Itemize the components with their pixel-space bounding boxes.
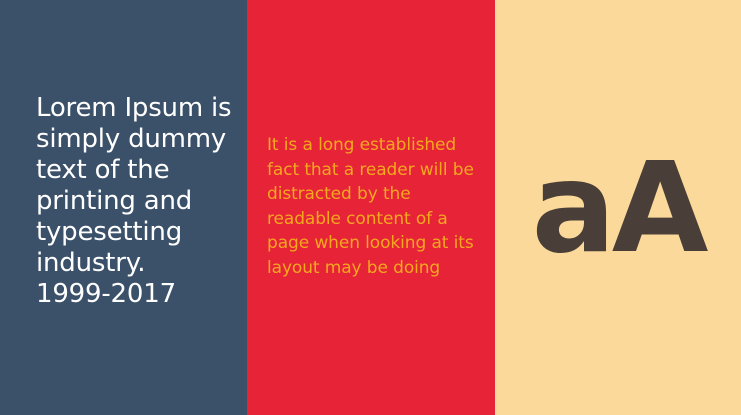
headline-panel: Lorem Ipsum is simply dummy text of the … <box>0 0 247 415</box>
glyph-pair-text: aA <box>495 146 741 271</box>
bodycopy-panel: It is a long established fact that a rea… <box>247 0 495 415</box>
font-specimen-canvas: Lorem Ipsum is simply dummy text of the … <box>0 0 741 415</box>
bodycopy-text: It is a long established fact that a rea… <box>267 133 482 280</box>
headline-text: Lorem Ipsum is simply dummy text of the … <box>36 93 236 310</box>
glyph-panel: aA <box>495 0 741 415</box>
